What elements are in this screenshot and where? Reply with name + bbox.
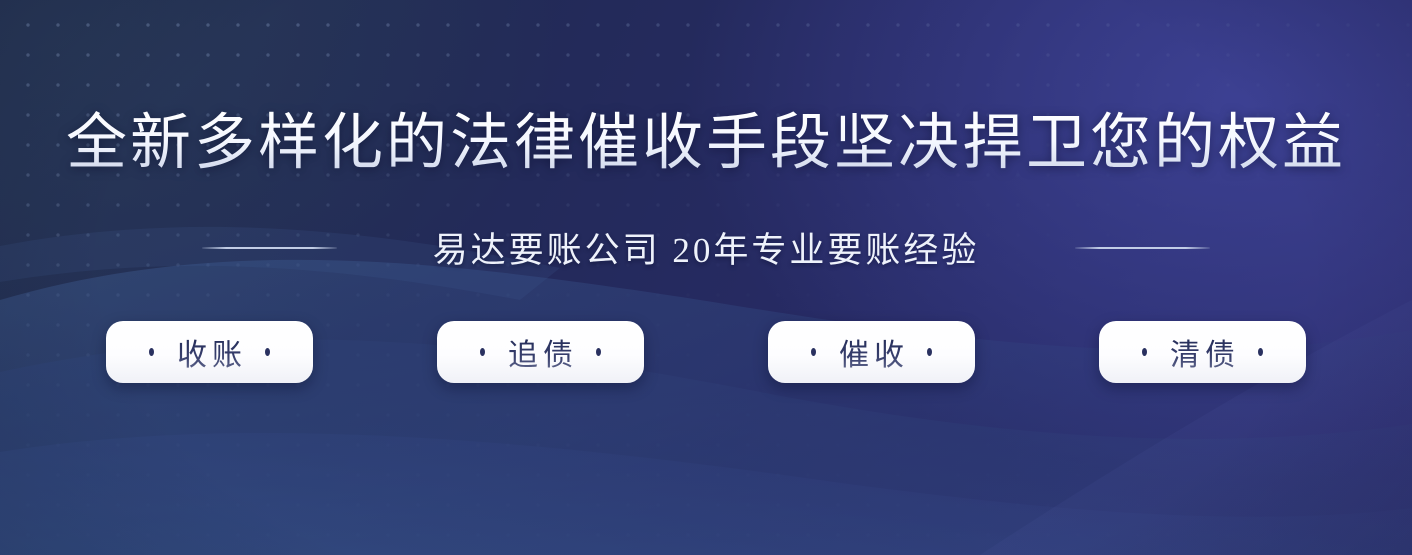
decorative-rule-right	[1075, 247, 1210, 249]
dot-icon-left	[480, 348, 485, 356]
promo-banner: 全新多样化的法律催收手段坚决捍卫您的权益 易达要账公司 20年专业要账经验 收账…	[0, 0, 1412, 555]
service-pill-qingzhai[interactable]: 清债	[1099, 321, 1306, 383]
banner-headline: 全新多样化的法律催收手段坚决捍卫您的权益	[66, 110, 1346, 178]
dot-icon-right	[927, 348, 932, 356]
dot-icon-left	[811, 348, 816, 356]
banner-subtitle: 易达要账公司 20年专业要账经验	[433, 222, 980, 273]
dot-icon-left	[149, 348, 154, 356]
service-pill-shouzhang[interactable]: 收账	[106, 321, 313, 383]
dot-icon-right	[596, 348, 601, 356]
dot-icon-right	[265, 348, 270, 356]
decorative-rule-left	[202, 247, 337, 249]
dot-icon-left	[1142, 348, 1147, 356]
service-pill-cuishou[interactable]: 催收	[768, 321, 975, 383]
service-pill-label: 催收	[834, 330, 909, 374]
service-pill-zhuizhai[interactable]: 追债	[437, 321, 644, 383]
banner-content: 全新多样化的法律催收手段坚决捍卫您的权益 易达要账公司 20年专业要账经验 收账…	[0, 0, 1412, 555]
service-pill-label: 清债	[1165, 330, 1240, 374]
service-pill-label: 追债	[503, 330, 578, 374]
dot-icon-right	[1258, 348, 1263, 356]
service-pill-label: 收账	[172, 330, 247, 374]
subtitle-row: 易达要账公司 20年专业要账经验	[202, 222, 1211, 273]
service-pill-group: 收账 追债 催收 清债	[106, 321, 1306, 383]
